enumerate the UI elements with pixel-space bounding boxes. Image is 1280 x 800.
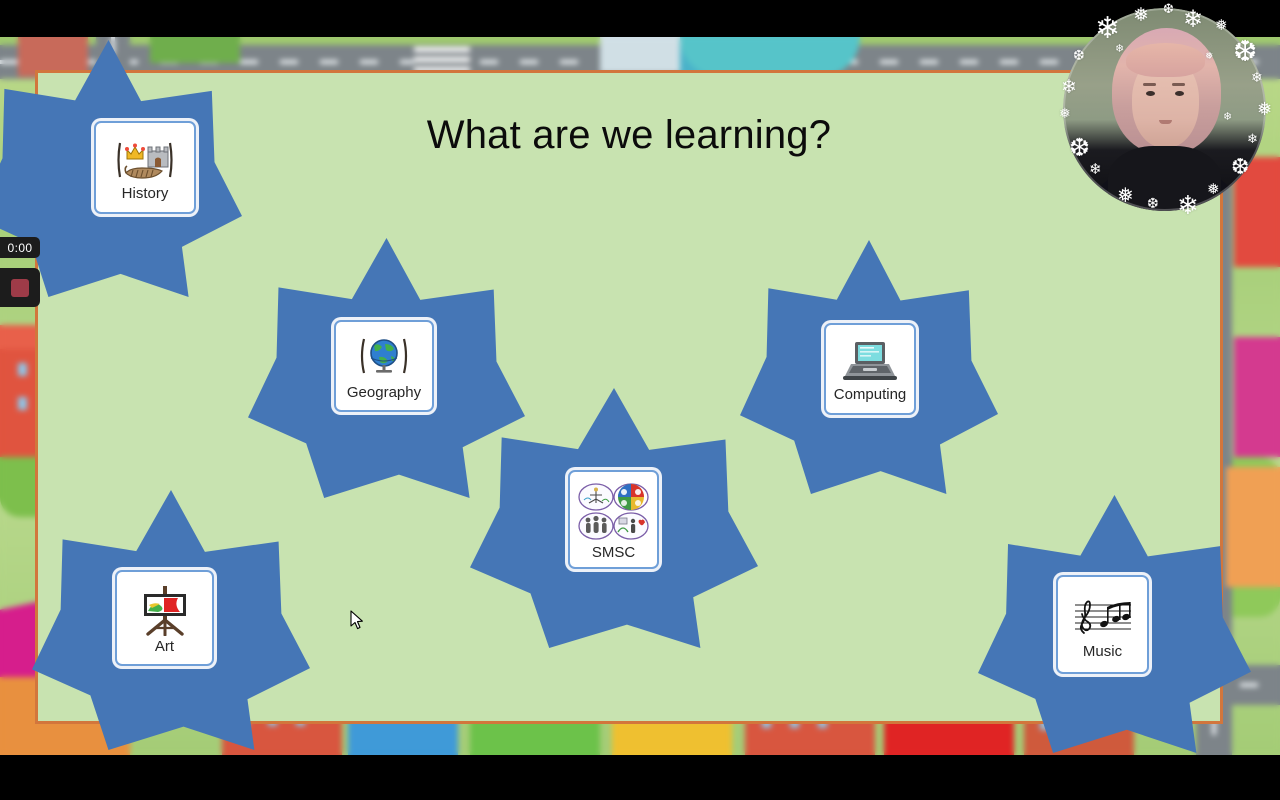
presenter-webcam-bubble[interactable]	[1063, 8, 1266, 211]
subject-card-history[interactable]: History	[94, 121, 196, 214]
subject-label-computing: Computing	[834, 387, 907, 402]
letterbox-top	[0, 0, 1280, 37]
history-crown-castle-ship-icon	[116, 137, 174, 183]
smsc-four-circles-icon	[578, 482, 650, 542]
laptop-icon	[841, 338, 899, 384]
mouse-cursor	[350, 610, 364, 630]
subject-label-history: History	[122, 186, 169, 201]
stop-square-icon	[11, 279, 29, 297]
recording-timer: 0:00	[0, 237, 40, 258]
globe-icon	[357, 334, 411, 382]
letterbox-bottom	[0, 755, 1280, 800]
subject-card-smsc[interactable]: SMSC	[568, 470, 659, 569]
subject-card-music[interactable]: Music	[1056, 575, 1149, 674]
subject-label-music: Music	[1083, 644, 1122, 659]
subject-label-geography: Geography	[347, 385, 421, 400]
page-title: What are we learning?	[38, 113, 1220, 158]
subject-card-art[interactable]: Art	[115, 570, 214, 666]
subject-card-computing[interactable]: Computing	[824, 323, 916, 415]
easel-painting-icon	[134, 584, 196, 636]
music-staff-notes-icon	[1071, 593, 1135, 641]
screen: What are we learning?	[0, 0, 1280, 800]
webcam-border	[1063, 8, 1266, 211]
subject-label-art: Art	[155, 639, 174, 654]
stop-recording-button[interactable]	[0, 268, 40, 307]
subject-label-smsc: SMSC	[592, 545, 635, 560]
subject-card-geography[interactable]: Geography	[334, 320, 434, 412]
